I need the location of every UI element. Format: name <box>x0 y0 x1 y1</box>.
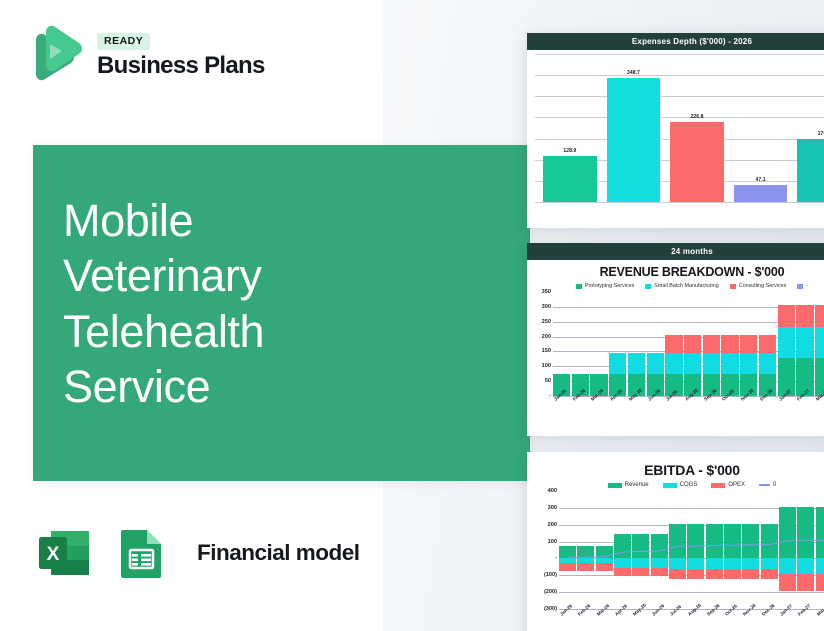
revenue-bars <box>553 292 824 396</box>
legend-item: Small Batch Manufacturing <box>645 283 718 289</box>
ebitda-trend-line <box>559 491 824 609</box>
stacked-bar-column <box>778 292 795 396</box>
bar-segment <box>740 353 757 374</box>
legend-item: COGS <box>663 482 698 488</box>
legend-swatch <box>608 483 622 488</box>
brand-logo: READY Business Plans <box>24 22 265 84</box>
y-axis: 400300200100-(100)(200)(300) <box>529 491 559 609</box>
stacked-bar-column <box>740 292 757 396</box>
stacked-bar-column <box>703 292 720 396</box>
bar <box>607 78 661 202</box>
bar-segment <box>721 335 738 353</box>
revenue-plot-area: 35030025020015010050-Jan-26Feb-26Mar-26A… <box>529 292 824 410</box>
stacked-bar-column <box>590 292 607 396</box>
y-tick-label: 200 <box>542 334 551 340</box>
bar-segment <box>647 353 664 374</box>
legend-item: - <box>797 283 808 289</box>
bar-segment <box>759 335 776 353</box>
google-sheets-file-icon <box>111 522 173 584</box>
y-axis: 35030025020015010050- <box>529 292 553 396</box>
y-tick-label: (200) <box>544 589 557 595</box>
legend-label: Prototyping Services <box>585 283 634 289</box>
y-tick-label: (100) <box>544 572 557 578</box>
y-tick-label: 350 <box>542 289 551 295</box>
y-tick-label: 200 <box>548 522 557 528</box>
legend-label: - <box>806 283 808 289</box>
bar-segment <box>815 305 824 327</box>
legend-label: COGS <box>680 482 698 488</box>
bar-value-label: 348.7 <box>607 70 661 76</box>
chart-card-expenses: Expenses Depth ($'000) - 2026 128.9348.7… <box>527 33 824 228</box>
bar-segment <box>778 327 795 358</box>
legend-swatch <box>645 284 651 289</box>
gridline <box>535 202 824 203</box>
bar-segment <box>684 335 701 353</box>
legend-label: OPEX <box>728 482 745 488</box>
legend-item: Revenue <box>608 482 649 488</box>
x-axis-labels: Jan-26Feb-26Mar-26Apr-26May-26Jun-26Jul-… <box>553 396 824 412</box>
bar-segment <box>628 353 645 374</box>
chart-legend-ebitda: RevenueCOGSOPEX0 <box>527 480 824 489</box>
y-tick-label: 400 <box>548 488 557 494</box>
stacked-bar-column <box>609 292 626 396</box>
stacked-bar-column <box>815 292 824 396</box>
bar-segment <box>759 353 776 374</box>
legend-swatch <box>576 284 582 289</box>
legend-swatch <box>730 284 736 289</box>
y-tick-label: 100 <box>542 363 551 369</box>
stacked-bar-column <box>721 292 738 396</box>
bar-column: 176.5 <box>797 60 824 202</box>
legend-label: Small Batch Manufacturing <box>654 283 718 289</box>
legend-item: Consulting Services <box>730 283 787 289</box>
gridline <box>535 54 824 55</box>
stacked-bar-column <box>572 292 589 396</box>
ebitda-bars <box>559 491 824 609</box>
stacked-bar-column <box>665 292 682 396</box>
legend-item: Prototyping Services <box>576 283 634 289</box>
bar-segment <box>665 335 682 353</box>
bar <box>734 185 788 202</box>
footer-formats: X Financial model <box>33 522 360 584</box>
bar-segment <box>684 353 701 374</box>
y-tick-label: 100 <box>548 539 557 545</box>
y-tick-label: 150 <box>542 348 551 354</box>
bar <box>543 156 597 202</box>
legend-label: Revenue <box>625 482 649 488</box>
stacked-bar-column <box>647 292 664 396</box>
chart-card-revenue: 24 months REVENUE BREAKDOWN - $'000 Prot… <box>527 243 824 436</box>
bar-segment <box>815 327 824 358</box>
stacked-bar-column <box>759 292 776 396</box>
ready-badge: READY <box>97 33 150 50</box>
legend-label: Consulting Services <box>739 283 787 289</box>
y-tick-label: (300) <box>544 606 557 612</box>
brand-text-block: READY Business Plans <box>97 28 265 78</box>
hero-panel: Mobile Veterinary Telehealth Service <box>33 145 530 481</box>
bar <box>670 122 724 203</box>
y-tick-label: - <box>549 393 551 399</box>
financial-model-label: Financial model <box>197 540 360 566</box>
brand-name: Business Plans <box>97 53 265 78</box>
stacked-bar-column <box>553 292 570 396</box>
chart-title-expenses: Expenses Depth ($'000) - 2026 <box>527 33 824 50</box>
excel-file-icon: X <box>33 522 95 584</box>
chart-header-24-months: 24 months <box>527 243 824 260</box>
y-tick-label: 300 <box>542 304 551 310</box>
chart-title-revenue: REVENUE BREAKDOWN - $'000 <box>527 260 824 281</box>
bar-segment <box>778 305 795 327</box>
chart-title-ebitda: EBITDA - $'000 <box>527 452 824 480</box>
y-tick-label: 300 <box>548 505 557 511</box>
legend-label: 0 <box>773 482 776 488</box>
legend-swatch <box>711 483 725 488</box>
y-tick-label: 50 <box>545 378 551 384</box>
bar-segment <box>703 353 720 374</box>
ebitda-plot-area: 400300200100-(100)(200)(300)Jan-26Feb-26… <box>529 491 824 627</box>
legend-swatch <box>797 284 803 289</box>
svg-text:X: X <box>47 544 60 565</box>
bar-value-label: 226.8 <box>670 114 724 120</box>
play-logo-icon <box>24 22 86 84</box>
y-tick-label: - <box>555 555 557 561</box>
legend-swatch <box>663 483 677 488</box>
page-title: Mobile Veterinary Telehealth Service <box>63 193 264 414</box>
bar-value-label: 128.9 <box>543 148 597 154</box>
legend-item: OPEX <box>711 482 745 488</box>
y-tick-label: 250 <box>542 319 551 325</box>
stacked-bar-column <box>628 292 645 396</box>
chart-legend-revenue: Prototyping ServicesSmall Batch Manufact… <box>527 281 824 290</box>
legend-item: 0 <box>759 482 776 488</box>
bar-segment <box>609 353 626 374</box>
chart-card-ebitda: EBITDA - $'000 RevenueCOGSOPEX0 40030020… <box>527 452 824 631</box>
expenses-bars: 128.9348.7226.847.1176.5 <box>543 60 824 202</box>
bar-segment <box>721 353 738 374</box>
bar-column: 128.9 <box>543 60 597 202</box>
bar-segment <box>796 305 813 327</box>
bar-column: 348.7 <box>607 60 661 202</box>
bar-value-label: 176.5 <box>797 131 824 137</box>
x-axis-labels: Jan-26Feb-26Mar-26Apr-26May-26Jun-26Jul-… <box>559 611 824 627</box>
bar-column: 47.1 <box>734 60 788 202</box>
legend-swatch <box>759 484 770 486</box>
bar <box>797 139 824 202</box>
stacked-bar-column <box>796 292 813 396</box>
expenses-plot-area: 128.9348.7226.847.1176.5 <box>535 54 824 202</box>
bar-value-label: 47.1 <box>734 177 788 183</box>
bar-segment <box>740 335 757 353</box>
stacked-bar-column <box>684 292 701 396</box>
bar-segment <box>796 327 813 358</box>
bar-column: 226.8 <box>670 60 724 202</box>
bar-segment <box>703 335 720 353</box>
bar-segment <box>665 353 682 374</box>
